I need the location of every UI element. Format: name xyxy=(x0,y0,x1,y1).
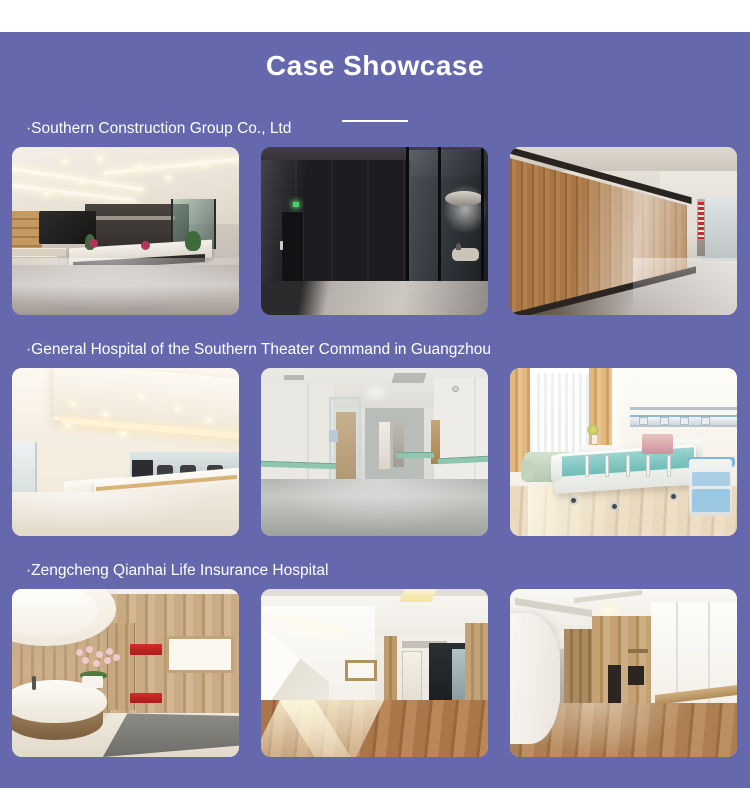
case-image-curved-wall-wood-cabinets[interactable] xyxy=(510,589,737,757)
case-showcase-page: Case Showcase ·Southern Construction Gro… xyxy=(0,0,750,812)
showcase-section-1: ·Southern Construction Group Co., Ltd xyxy=(0,114,750,316)
showcase-panel: Case Showcase ·Southern Construction Gro… xyxy=(0,32,750,788)
case-image-curved-reception-counter[interactable] xyxy=(12,589,239,757)
case-image-dark-metal-panel-corridor[interactable] xyxy=(261,147,488,315)
case-image-empty-room-sunlight[interactable] xyxy=(261,589,488,757)
image-row-1 xyxy=(0,147,750,316)
case-image-office-lobby-reception[interactable] xyxy=(12,147,239,315)
scene-office-lobby xyxy=(12,147,239,315)
scene-wood-corridor xyxy=(510,147,737,315)
showcase-section-3: ·Zengcheng Qianhai Life Insurance Hospit… xyxy=(0,556,750,758)
scene-sunlit-room xyxy=(261,589,488,757)
image-row-2 xyxy=(0,368,750,537)
scene-patient-room xyxy=(510,368,737,536)
scene-dark-metal-panel xyxy=(261,147,488,315)
scene-curved-reception xyxy=(12,589,239,757)
case-image-hospital-patient-room[interactable] xyxy=(510,368,737,536)
page-title: Case Showcase xyxy=(266,50,484,82)
scene-nurse-station xyxy=(12,368,239,536)
case-image-hospital-nurse-station[interactable] xyxy=(12,368,239,536)
case-image-hospital-ward-corridor[interactable] xyxy=(261,368,488,536)
case-image-wood-panel-corridor[interactable] xyxy=(510,147,737,315)
image-row-3 xyxy=(0,589,750,758)
section-heading-3: ·Zengcheng Qianhai Life Insurance Hospit… xyxy=(0,556,750,586)
page-title-wrap: Case Showcase xyxy=(0,50,750,82)
orchid-flowers xyxy=(73,646,123,683)
section-heading-2: ·General Hospital of the Southern Theate… xyxy=(0,335,750,365)
showcase-section-2: ·General Hospital of the Southern Theate… xyxy=(0,335,750,537)
section-heading-1: ·Southern Construction Group Co., Ltd xyxy=(0,114,750,144)
scene-hospital-corridor xyxy=(261,368,488,536)
scene-curved-wall-room xyxy=(510,589,737,757)
